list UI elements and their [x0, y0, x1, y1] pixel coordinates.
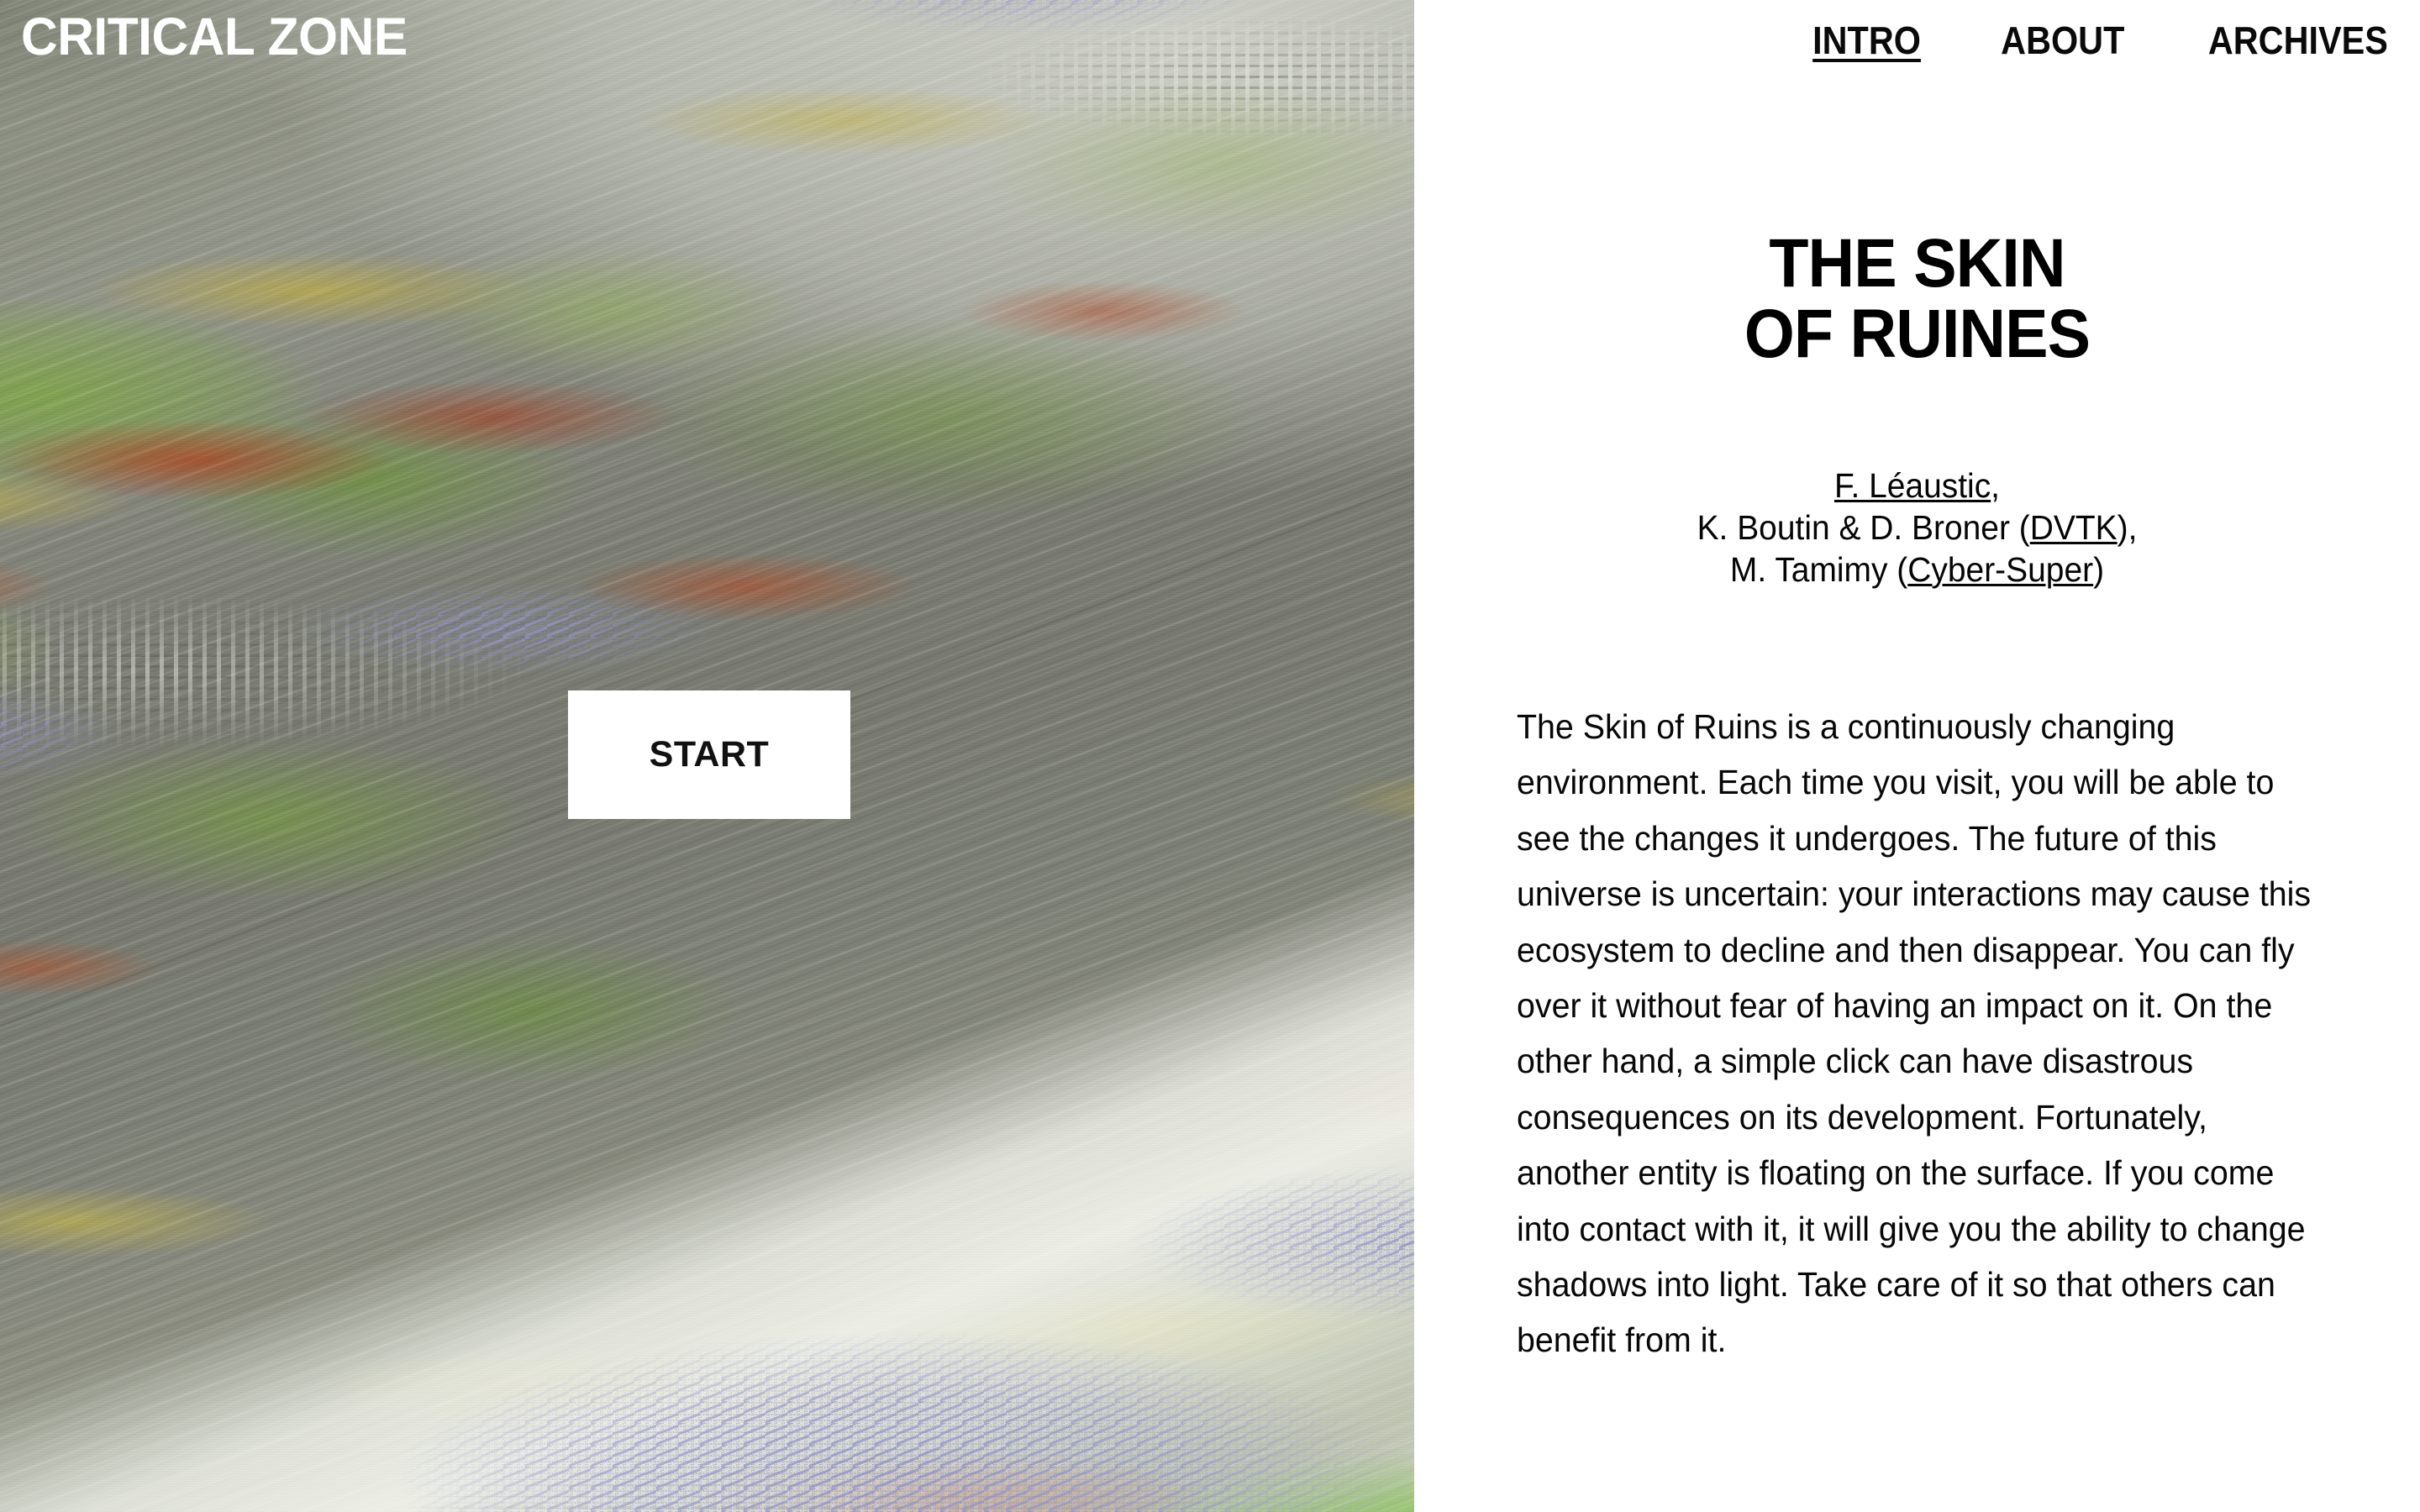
- page-title: THE SKIN OF RUINES: [1444, 228, 2390, 369]
- page-title-line-1: THE SKIN: [1444, 228, 2390, 299]
- hero-artwork: CRITICAL ZONE START: [0, 0, 1414, 1512]
- nav-item-intro[interactable]: INTRO: [1812, 18, 1921, 63]
- credits-line-1: F. Léaustic,: [1439, 465, 2395, 507]
- credits-line-1-tail: ,: [1991, 466, 2000, 505]
- credit-link-leaustic[interactable]: F. Léaustic: [1834, 466, 1991, 505]
- credit-link-cyber-super[interactable]: Cyber-Super: [1907, 550, 2093, 589]
- start-button[interactable]: START: [568, 690, 850, 819]
- article-body-paragraph: The Skin of Ruins is a continuously chan…: [1517, 699, 2323, 1368]
- credits-line-2: K. Boutin & D. Broner (DVTK),: [1439, 507, 2395, 549]
- credits-block: F. Léaustic, K. Boutin & D. Broner (DVTK…: [1439, 465, 2395, 591]
- page-root: CRITICAL ZONE START INTRO ABOUT ARCHIVES…: [0, 0, 2420, 1512]
- site-wordmark: CRITICAL ZONE: [21, 8, 408, 66]
- article-body: The Skin of Ruins is a continuously chan…: [1517, 699, 2323, 1368]
- credits-line-3-tail: ): [2093, 550, 2104, 589]
- credits-line-2-lead: K. Boutin & D. Broner (: [1697, 508, 2030, 547]
- nav-item-about[interactable]: ABOUT: [2001, 18, 2124, 63]
- credit-link-dvtk[interactable]: DVTK: [2030, 508, 2117, 547]
- page-title-line-2: OF RUINES: [1444, 299, 2390, 370]
- content-panel: INTRO ABOUT ARCHIVES THE SKIN OF RUINES …: [1414, 0, 2420, 1512]
- credits-line-3: M. Tamimy (Cyber-Super): [1439, 549, 2395, 591]
- nav-item-archives[interactable]: ARCHIVES: [2208, 18, 2388, 63]
- credits-line-2-tail: ),: [2117, 508, 2138, 547]
- credits-line-3-lead: M. Tamimy (: [1730, 550, 1907, 589]
- main-nav: INTRO ABOUT ARCHIVES: [1807, 18, 2398, 63]
